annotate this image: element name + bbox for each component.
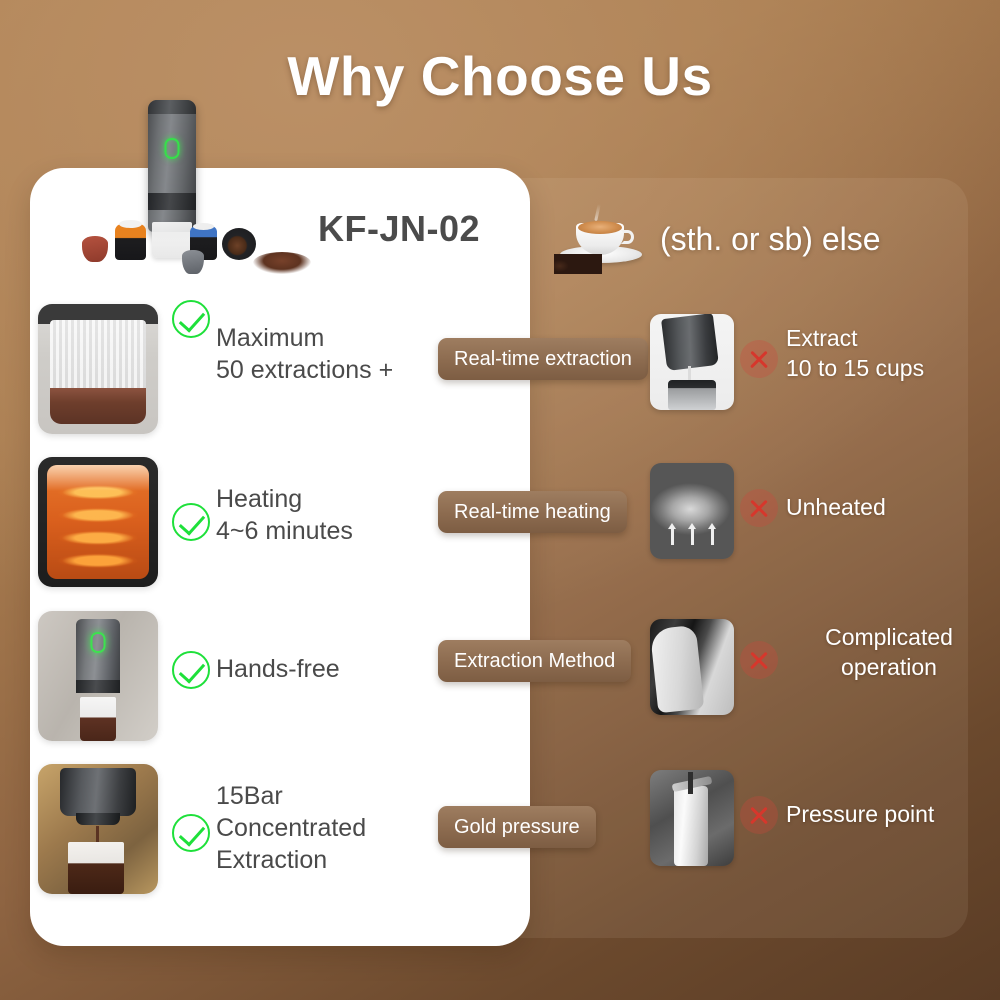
con-feature-line: Extract: [786, 324, 992, 354]
cross-icon: [740, 641, 778, 679]
feature-pill: Gold pressure: [438, 806, 596, 848]
con-feature-line: 10 to 15 cups: [786, 354, 992, 384]
con-feature-line: Pressure point: [786, 800, 992, 830]
feature-pill: Real-time heating: [438, 491, 627, 533]
capsule-red-icon: [82, 236, 108, 262]
feature-pill: Extraction Method: [438, 640, 631, 682]
pro-feature-text: 15Bar Concentrated Extraction: [216, 780, 446, 876]
competitor-title: (sth. or sb) else: [660, 221, 881, 258]
pro-thumbnail-heating: [38, 457, 158, 587]
pro-feature-line: Maximum: [216, 322, 446, 354]
espresso-machine-icon: [148, 100, 196, 232]
pro-feature-line: Heating: [216, 483, 446, 515]
pro-feature-line: Extraction: [216, 844, 446, 876]
steam-icon: [594, 204, 600, 221]
con-feature-line: operation: [786, 653, 992, 683]
feature-pill: Real-time extraction: [438, 338, 648, 380]
con-feature-line: Unheated: [786, 493, 992, 523]
pro-feature-text: Heating 4~6 minutes: [216, 483, 446, 547]
pro-feature-line: Hands-free: [216, 653, 446, 685]
cross-icon: [740, 796, 778, 834]
capsule-orange-icon: [115, 224, 146, 260]
con-feature-text: Complicated operation: [786, 623, 992, 683]
comparison-row: Hands-free Extraction Method Complicated…: [0, 605, 1000, 755]
pro-thumbnail-extraction: [38, 304, 158, 434]
cross-icon: [740, 340, 778, 378]
page-title: Why Choose Us: [0, 44, 1000, 108]
con-thumbnail-manual-press: [650, 314, 734, 410]
cup-handle-shape: [621, 230, 634, 244]
check-icon: [172, 814, 210, 852]
comparison-row: 15Bar Concentrated Extraction Gold press…: [0, 760, 1000, 910]
coffee-beans-icon: [554, 254, 602, 274]
pro-feature-line: 50 extractions +: [216, 354, 446, 386]
pro-feature-line: 4~6 minutes: [216, 515, 446, 547]
infographic-canvas: Why Choose Us KF-JN-02 (sth. or sb) else: [0, 0, 1000, 1000]
product-model-name: KF-JN-02: [318, 208, 480, 250]
ground-coffee-icon: [253, 252, 311, 274]
comparison-row: Maximum 50 extractions + Real-time extra…: [0, 300, 1000, 450]
pro-thumbnail-pressure: [38, 764, 158, 894]
check-icon: [172, 651, 210, 689]
check-icon: [172, 503, 210, 541]
check-icon: [172, 300, 210, 338]
con-feature-text: Extract 10 to 15 cups: [786, 324, 992, 384]
pro-thumbnail-handsfree: [38, 611, 158, 741]
pro-feature-text: Hands-free: [216, 653, 446, 685]
crema-shape: [578, 221, 622, 234]
con-thumbnail-complicated: [650, 619, 734, 715]
capsule-open-icon: [222, 228, 256, 260]
comparison-row: Heating 4~6 minutes Real-time heating Un…: [0, 455, 1000, 605]
con-thumbnail-pressure-point: [650, 770, 734, 866]
pro-feature-line: 15Bar: [216, 780, 446, 812]
coffee-cup-icon: [552, 202, 652, 276]
pro-feature-line: Concentrated: [216, 812, 446, 844]
con-feature-line: Complicated: [786, 623, 992, 653]
con-feature-text: Unheated: [786, 493, 992, 523]
power-ring-icon: [165, 138, 180, 159]
con-thumbnail-unheated: [650, 463, 734, 559]
hero-product-image: [60, 100, 325, 285]
cross-icon: [740, 489, 778, 527]
con-feature-text: Pressure point: [786, 800, 992, 830]
competitor-header: (sth. or sb) else: [552, 200, 952, 278]
capsule-gray-icon: [182, 250, 204, 274]
pro-feature-text: Maximum 50 extractions +: [216, 322, 446, 386]
